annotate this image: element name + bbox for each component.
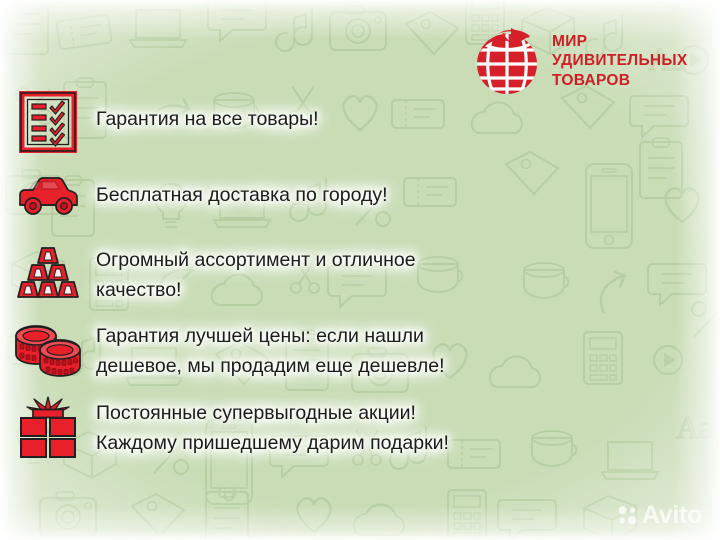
- gold-bars-icon: [0, 240, 96, 300]
- feature-list: Гарантия на все товары! Бесплатная доста…: [0, 88, 720, 468]
- feature-item-promotions-text: Постоянные супервыгодные акции! Каждому …: [96, 392, 469, 458]
- feature-text-line: качество!: [96, 275, 416, 305]
- coin-stacks-icon: [0, 316, 96, 378]
- feature-text-line: Огромный ассортимент и отличное: [96, 245, 416, 275]
- gift-box-icon: [0, 392, 96, 460]
- feature-item-assortment: Огромный ассортимент и отличное качество…: [0, 240, 720, 310]
- feature-text-line: дешевое, мы продадим еще дешевле!: [96, 351, 445, 381]
- feature-text-line: Гарантия на все товары!: [96, 104, 319, 134]
- feature-text-line: Постоянные супервыгодные акции!: [96, 398, 449, 428]
- feature-item-best-price: Гарантия лучшей цены: если нашли дешевое…: [0, 316, 720, 386]
- feature-item-warranty-text: Гарантия на все товары!: [96, 88, 339, 134]
- feature-item-assortment-text: Огромный ассортимент и отличное качество…: [96, 240, 436, 305]
- globe-grid-arrow-icon: [470, 24, 544, 98]
- brand-logo-line-2: УДИВИТЕЛЬНЫХ: [552, 51, 688, 71]
- promo-banner: Aa: [0, 0, 720, 540]
- feature-text-line: Гарантия лучшей цены: если нашли: [96, 321, 445, 351]
- feature-text-line: Каждому пришедшему дарим подарки!: [96, 428, 449, 458]
- feature-item-warranty: Гарантия на все товары!: [0, 88, 720, 158]
- feature-item-best-price-text: Гарантия лучшей цены: если нашли дешевое…: [96, 316, 465, 381]
- checklist-icon: [0, 88, 96, 153]
- feature-text-line: Бесплатная доставка по городу!: [96, 180, 388, 210]
- brand-logo-line-1: МИР: [552, 32, 688, 52]
- brand-logo: МИР УДИВИТЕЛЬНЫХ ТОВАРОВ: [470, 24, 688, 98]
- feature-item-free-delivery-text: Бесплатная доставка по городу!: [96, 164, 408, 210]
- feature-item-free-delivery: Бесплатная доставка по городу!: [0, 164, 720, 234]
- car-icon: [0, 164, 96, 219]
- feature-item-promotions: Постоянные супервыгодные акции! Каждому …: [0, 392, 720, 462]
- brand-logo-text: МИР УДИВИТЕЛЬНЫХ ТОВАРОВ: [552, 32, 688, 91]
